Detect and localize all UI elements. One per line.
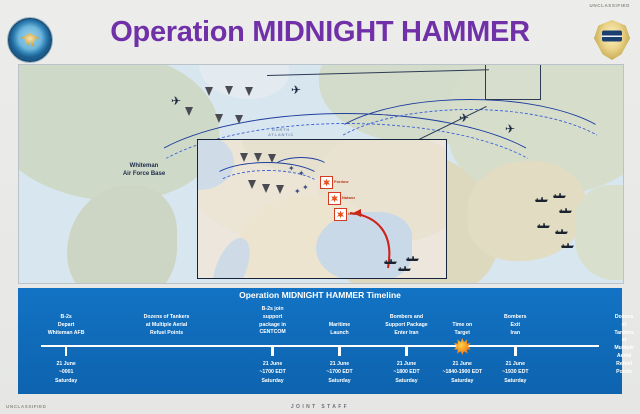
classification-banner-top: UNCLASSIFIED — [590, 3, 630, 8]
target-label-isfahan: Isfahan — [348, 211, 362, 216]
timeline-event-datetime: 21 June~0001Saturday — [55, 360, 77, 385]
timeline-tick — [271, 345, 274, 356]
origin-label-line2: Air Force Base — [123, 171, 165, 177]
timeline-event-label-line: at Multiple Aerial — [614, 337, 634, 359]
timeline-event-datetime-line: ~1800 EDT — [393, 369, 419, 375]
map-zoom-source-rectangle — [485, 64, 541, 100]
fighter-escort-icon: ✦ — [294, 188, 301, 196]
timeline-tick — [405, 345, 408, 356]
timeline-event-label-line: Support Package — [385, 322, 427, 328]
timeline-event-datetime: 21 June~1800 EDTSaturday — [393, 360, 419, 385]
page-title: Operation MIDNIGHT HAMMER — [0, 16, 640, 49]
timeline-event-label-line: Time on — [452, 322, 472, 328]
tomahawk-missile-route — [198, 140, 446, 278]
strike-target-icon-fordow — [320, 176, 333, 189]
timeline-event-datetime-line: Saturday — [55, 378, 77, 384]
timeline-event-label-line: support — [263, 314, 282, 320]
timeline-event-label-line: Refuel Points — [150, 330, 183, 336]
timeline-event-datetime-line: Saturday — [395, 378, 417, 384]
origin-label-line1: Whiteman — [130, 163, 159, 169]
b2-bomber-icon — [268, 154, 276, 163]
timeline-event-label-line: B-2s — [60, 314, 71, 320]
timeline-event-label: Dozens of Tankersat Multiple AerialRefue… — [144, 314, 190, 337]
fighter-escort-icon: ✦ — [298, 170, 305, 178]
timeline-event-datetime: 21 June~1700 EDTSaturday — [259, 360, 285, 385]
timeline-event-label: BombersExitIran — [504, 314, 527, 337]
timeline-tick — [514, 345, 517, 356]
classification-banner-bottom: UNCLASSIFIED — [6, 404, 46, 409]
timeline-event-label-line: at Multiple Aerial — [146, 322, 187, 328]
timeline-event-label-line: Whiteman AFB — [48, 330, 85, 336]
b2-bomber-icon — [276, 185, 284, 194]
b2-bomber-icon — [248, 180, 256, 189]
timeline-event-datetime-line: Saturday — [504, 378, 526, 384]
timeline-event-label-line: Dozens of Tankers — [614, 314, 634, 336]
timeline-event-label-line: Iran — [511, 330, 521, 336]
timeline-event-datetime: 21 June~1840-1900 EDTSaturday — [442, 360, 482, 385]
timeline-panel: Operation MIDNIGHT HAMMER Timeline B-2sD… — [18, 288, 622, 394]
timeline-event-datetime: 21 June~1930 EDTSaturday — [502, 360, 528, 385]
fighter-escort-icon: ✦ — [302, 184, 309, 192]
timeline-event-datetime-line: 21 June — [506, 361, 525, 367]
timeline-event-label: Dozens of Tankersat Multiple AerialRefue… — [614, 314, 634, 376]
timeline-event-datetime-line: Saturday — [261, 378, 283, 384]
timeline-event-datetime-line: Saturday — [451, 378, 473, 384]
operations-map: NORTHATLANTICOCEAN Whiteman Air Force Ba… — [18, 64, 624, 284]
target-label-natanz: Natanz — [342, 195, 355, 200]
map-inset-theater-view: ✦ ✦ ✦ ✦ Fordow Natanz Isfahan — [197, 139, 447, 279]
timeline-event-label-line: Launch — [330, 330, 348, 336]
timeline-event-label-line: Bombers — [504, 314, 527, 320]
timeline-event-label: B-2s joinsupportpackage inCENTCOM — [259, 306, 286, 337]
timeline-event-label-line: Bombers and — [390, 314, 423, 320]
timeline-event-label-line: Depart — [58, 322, 74, 328]
b2-bomber-icon — [254, 153, 262, 162]
strike-target-icon-natanz — [328, 192, 341, 205]
timeline-event-datetime-line: ~1840-1900 EDT — [442, 369, 482, 375]
b2-bomber-icon — [185, 107, 193, 116]
timeline-event-datetime-line: 21 June — [330, 361, 349, 367]
slide-root: UNCLASSIFIED Operation MIDNIGHT HAMMER N… — [0, 0, 640, 414]
timeline-event-datetime: 21 June~1700 EDTSaturday — [326, 360, 352, 385]
timeline-event-datetime-line: 21 June — [56, 361, 75, 367]
aircraft-icon-1: ✈ — [171, 95, 181, 107]
timeline-event-label-line: Enter Iran — [394, 330, 418, 336]
strike-target-icon-isfahan — [334, 208, 347, 221]
timeline-event-datetime-line: ~0001 — [59, 369, 74, 375]
timeline-event-datetime-line: 21 June — [453, 361, 472, 367]
timeline-tick — [65, 345, 68, 356]
timeline-event-label: Time onTarget — [452, 322, 472, 338]
aircraft-icon-4: ✈ — [505, 123, 515, 135]
timeline-event-label: MaritimeLaunch — [329, 322, 350, 338]
timeline-event-datetime-line: Saturday — [328, 378, 350, 384]
target-label-fordow: Fordow — [334, 179, 348, 184]
aircraft-icon-2: ✈ — [291, 84, 301, 96]
timeline-event-datetime-line: ~1930 EDT — [502, 369, 528, 375]
fighter-escort-icon: ✦ — [288, 165, 295, 173]
timeline-title: Operation MIDNIGHT HAMMER Timeline — [18, 290, 622, 300]
timeline-event-label-line: CENTCOM — [259, 329, 285, 335]
b2-bomber-icon — [225, 86, 233, 95]
b2-bomber-icon — [205, 87, 213, 96]
timeline-event-label-line: Exit — [511, 322, 521, 328]
timeline-event-datetime-line: 21 June — [263, 361, 282, 367]
b2-bomber-icon — [235, 115, 243, 124]
timeline-tick — [338, 345, 341, 356]
timeline-event-label-line: Maritime — [329, 322, 350, 328]
b2-bomber-icon — [245, 87, 253, 96]
b2-bomber-icon — [262, 184, 270, 193]
timeline-event-label-line: Refuel Points — [616, 361, 632, 375]
timeline-event-label-line: Dozens of Tankers — [144, 314, 190, 320]
timeline-event-datetime-line: 21 June — [397, 361, 416, 367]
map-origin-label: Whiteman Air Force Base — [101, 162, 187, 178]
timeline-event-datetime-line: ~1700 EDT — [259, 369, 285, 375]
b2-bomber-icon — [215, 114, 223, 123]
timeline-event-datetime-line: ~1700 EDT — [326, 369, 352, 375]
b2-bomber-icon — [240, 153, 248, 162]
timeline-event-label-line: package in — [259, 322, 286, 328]
timeline-event-label: Bombers andSupport PackageEnter Iran — [385, 314, 427, 337]
timeline-event-label: B-2sDepartWhiteman AFB — [48, 314, 85, 337]
timeline-event-label-line: Target — [455, 330, 470, 336]
timeline-event-label-line: B-2s join — [262, 306, 284, 312]
footer-organization: JOINT STAFF — [291, 404, 349, 410]
